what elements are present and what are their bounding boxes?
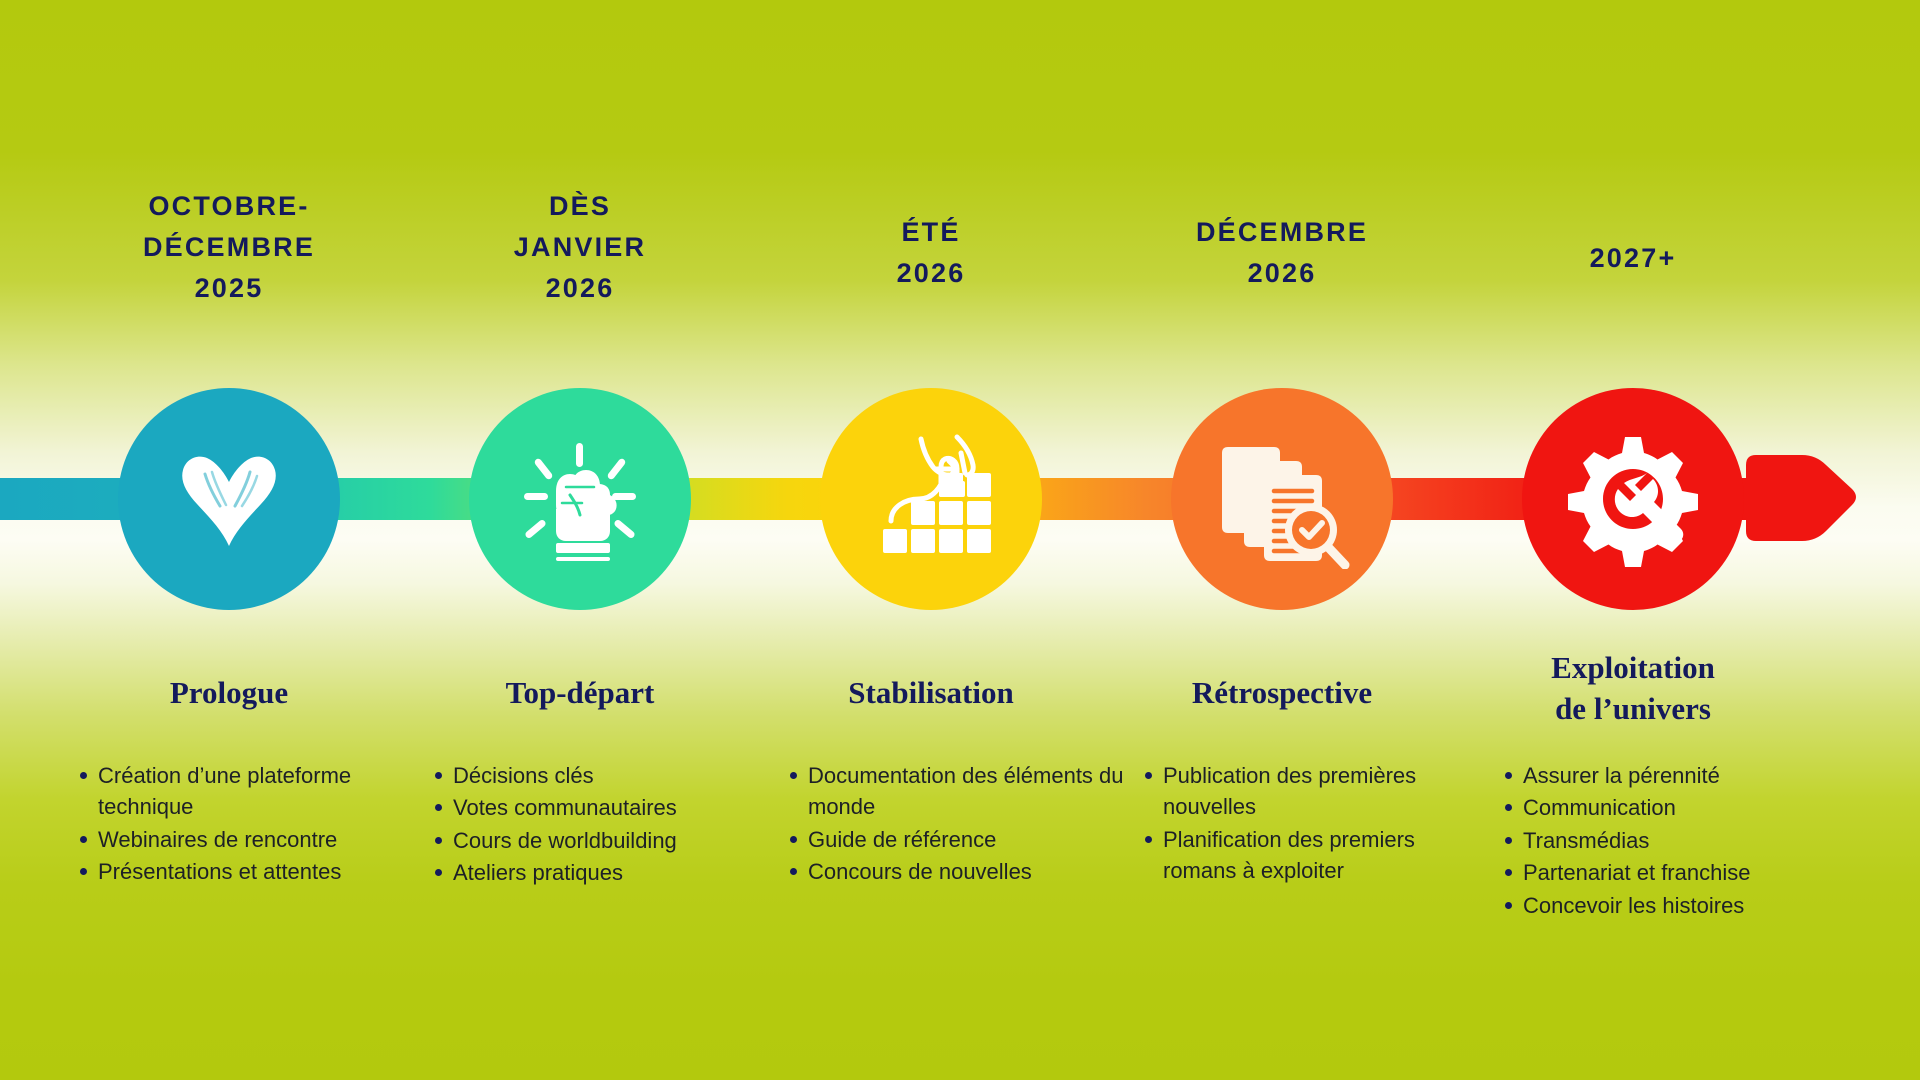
gear-wrench-icon bbox=[1563, 429, 1703, 569]
list-item: Guide de référence bbox=[808, 824, 1128, 855]
list-item: Partenariat et franchise bbox=[1523, 857, 1853, 888]
milestone-bullets-exploitation: Assurer la pérennité Communication Trans… bbox=[1497, 760, 1853, 922]
list-item: Votes communautaires bbox=[453, 792, 773, 823]
date-line: 2026 bbox=[781, 253, 1081, 294]
list-item: Décisions clés bbox=[453, 760, 773, 791]
milestone-bullets-retrospective: Publication des premières nouvelles Plan… bbox=[1137, 760, 1493, 888]
milestone-date-stabilisation: ÉTÉ 2026 bbox=[781, 212, 1081, 294]
documents-magnifier-check-icon bbox=[1212, 429, 1352, 569]
milestone-bullets-prologue: Création d’une plateforme technique Webi… bbox=[72, 760, 418, 889]
date-line: ÉTÉ bbox=[781, 212, 1081, 253]
list-item: Concevoir les histoires bbox=[1523, 890, 1853, 921]
date-line: 2027+ bbox=[1483, 238, 1783, 279]
date-line: DÉCEMBRE bbox=[1132, 212, 1432, 253]
milestone-date-prologue: OCTOBRE- DÉCEMBRE 2025 bbox=[79, 186, 379, 309]
milestone-date-top-depart: DÈS JANVIER 2026 bbox=[430, 186, 730, 309]
milestone-heading-top-depart: Top-départ bbox=[430, 673, 730, 714]
list-item: Publication des premières nouvelles bbox=[1163, 760, 1493, 823]
list-item: Assurer la pérennité bbox=[1523, 760, 1853, 791]
date-line: DÉCEMBRE bbox=[79, 227, 379, 268]
milestone-date-exploitation: 2027+ bbox=[1483, 238, 1783, 279]
date-line: OCTOBRE- bbox=[79, 186, 379, 227]
milestone-heading-prologue: Prologue bbox=[79, 673, 379, 714]
milestone-heading-retrospective: Rétrospective bbox=[1132, 673, 1432, 714]
milestone-heading-stabilisation: Stabilisation bbox=[781, 673, 1081, 714]
heading-line: Rétrospective bbox=[1132, 673, 1432, 714]
heading-line: Top-départ bbox=[430, 673, 730, 714]
list-item: Concours de nouvelles bbox=[808, 856, 1128, 887]
list-item: Ateliers pratiques bbox=[453, 857, 773, 888]
milestone-bullets-top-depart: Décisions clés Votes communautaires Cour… bbox=[427, 760, 773, 890]
date-line: 2026 bbox=[430, 268, 730, 309]
milestone-circle-stabilisation[interactable] bbox=[820, 388, 1042, 610]
milestone-circle-top-depart[interactable] bbox=[469, 388, 691, 610]
milestone-bullets-stabilisation: Documentation des éléments du monde Guid… bbox=[782, 760, 1128, 889]
milestone-heading-exploitation: Exploitation de l’univers bbox=[1483, 648, 1783, 730]
date-line: JANVIER bbox=[430, 227, 730, 268]
date-line: 2026 bbox=[1132, 253, 1432, 294]
list-item: Planification des premiers romans à expl… bbox=[1163, 824, 1493, 887]
heading-line: Exploitation bbox=[1483, 648, 1783, 689]
list-item: Webinaires de rencontre bbox=[98, 824, 418, 855]
hand-building-blocks-icon bbox=[861, 429, 1001, 569]
list-item: Présentations et attentes bbox=[98, 856, 418, 887]
list-item: Communication bbox=[1523, 792, 1853, 823]
heading-line: de l’univers bbox=[1483, 689, 1783, 730]
milestone-circle-retrospective[interactable] bbox=[1171, 388, 1393, 610]
raised-fist-icon bbox=[512, 431, 648, 567]
list-item: Documentation des éléments du monde bbox=[808, 760, 1128, 823]
list-item: Cours de worldbuilding bbox=[453, 825, 773, 856]
date-line: DÈS bbox=[430, 186, 730, 227]
timeline-infographic: OCTOBRE- DÉCEMBRE 2025 Prologue Création… bbox=[0, 0, 1920, 1080]
list-item: Transmédias bbox=[1523, 825, 1853, 856]
milestone-date-retrospective: DÉCEMBRE 2026 bbox=[1132, 212, 1432, 294]
milestone-circle-exploitation[interactable] bbox=[1522, 388, 1744, 610]
list-item: Création d’une plateforme technique bbox=[98, 760, 418, 823]
heading-line: Prologue bbox=[79, 673, 379, 714]
milestone-circle-prologue[interactable] bbox=[118, 388, 340, 610]
heart-icon bbox=[164, 434, 294, 564]
heading-line: Stabilisation bbox=[781, 673, 1081, 714]
date-line: 2025 bbox=[79, 268, 379, 309]
